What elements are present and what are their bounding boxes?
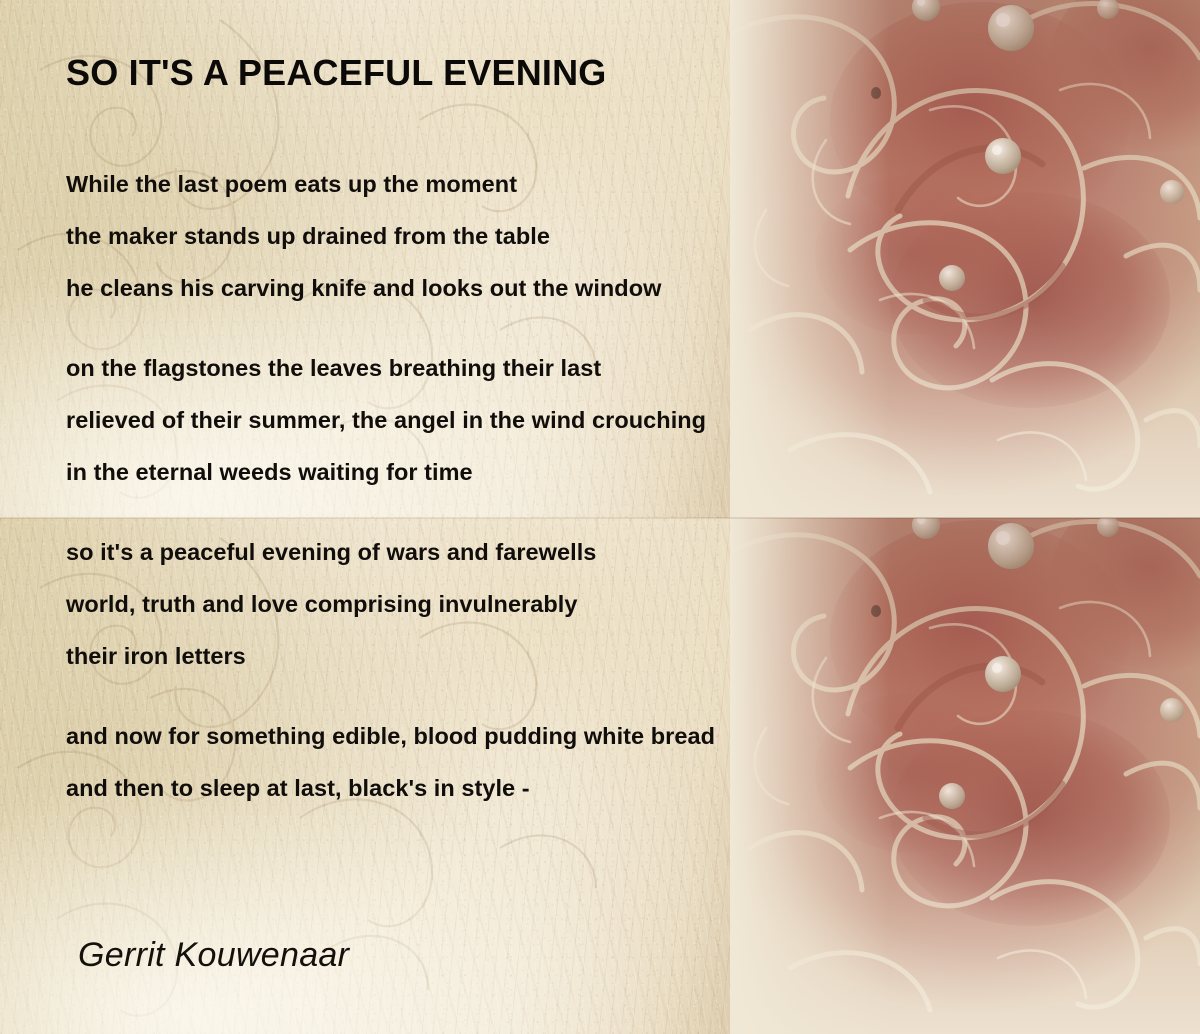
poem-title: SO IT'S A PEACEFUL EVENING [66,52,607,94]
poem-line: he cleans his carving knife and looks ou… [66,262,1066,314]
poem-line: on the flagstones the leaves breathing t… [66,342,1066,394]
poem-line: their iron letters [66,630,1066,682]
poem-line: the maker stands up drained from the tab… [66,210,1066,262]
poem-body: While the last poem eats up the moment t… [66,158,1066,814]
stanza: and now for something edible, blood pudd… [66,710,1066,814]
poem-line: relieved of their summer, the angel in t… [66,394,1066,446]
stanza: While the last poem eats up the moment t… [66,158,1066,314]
poem-line: world, truth and love comprising invulne… [66,578,1066,630]
poem-text-layer: SO IT'S A PEACEFUL EVENING While the las… [0,0,1200,1034]
stanza: on the flagstones the leaves breathing t… [66,342,1066,498]
poem-line: and then to sleep at last, black's in st… [66,762,1066,814]
stanza: so it's a peaceful evening of wars and f… [66,526,1066,682]
poem-line: so it's a peaceful evening of wars and f… [66,526,1066,578]
poem-line: in the eternal weeds waiting for time [66,446,1066,498]
poem-author: Gerrit Kouwenaar [78,936,349,975]
poem-line: While the last poem eats up the moment [66,158,1066,210]
poem-poster: SO IT'S A PEACEFUL EVENING While the las… [0,0,1200,1034]
poem-line: and now for something edible, blood pudd… [66,710,1066,762]
